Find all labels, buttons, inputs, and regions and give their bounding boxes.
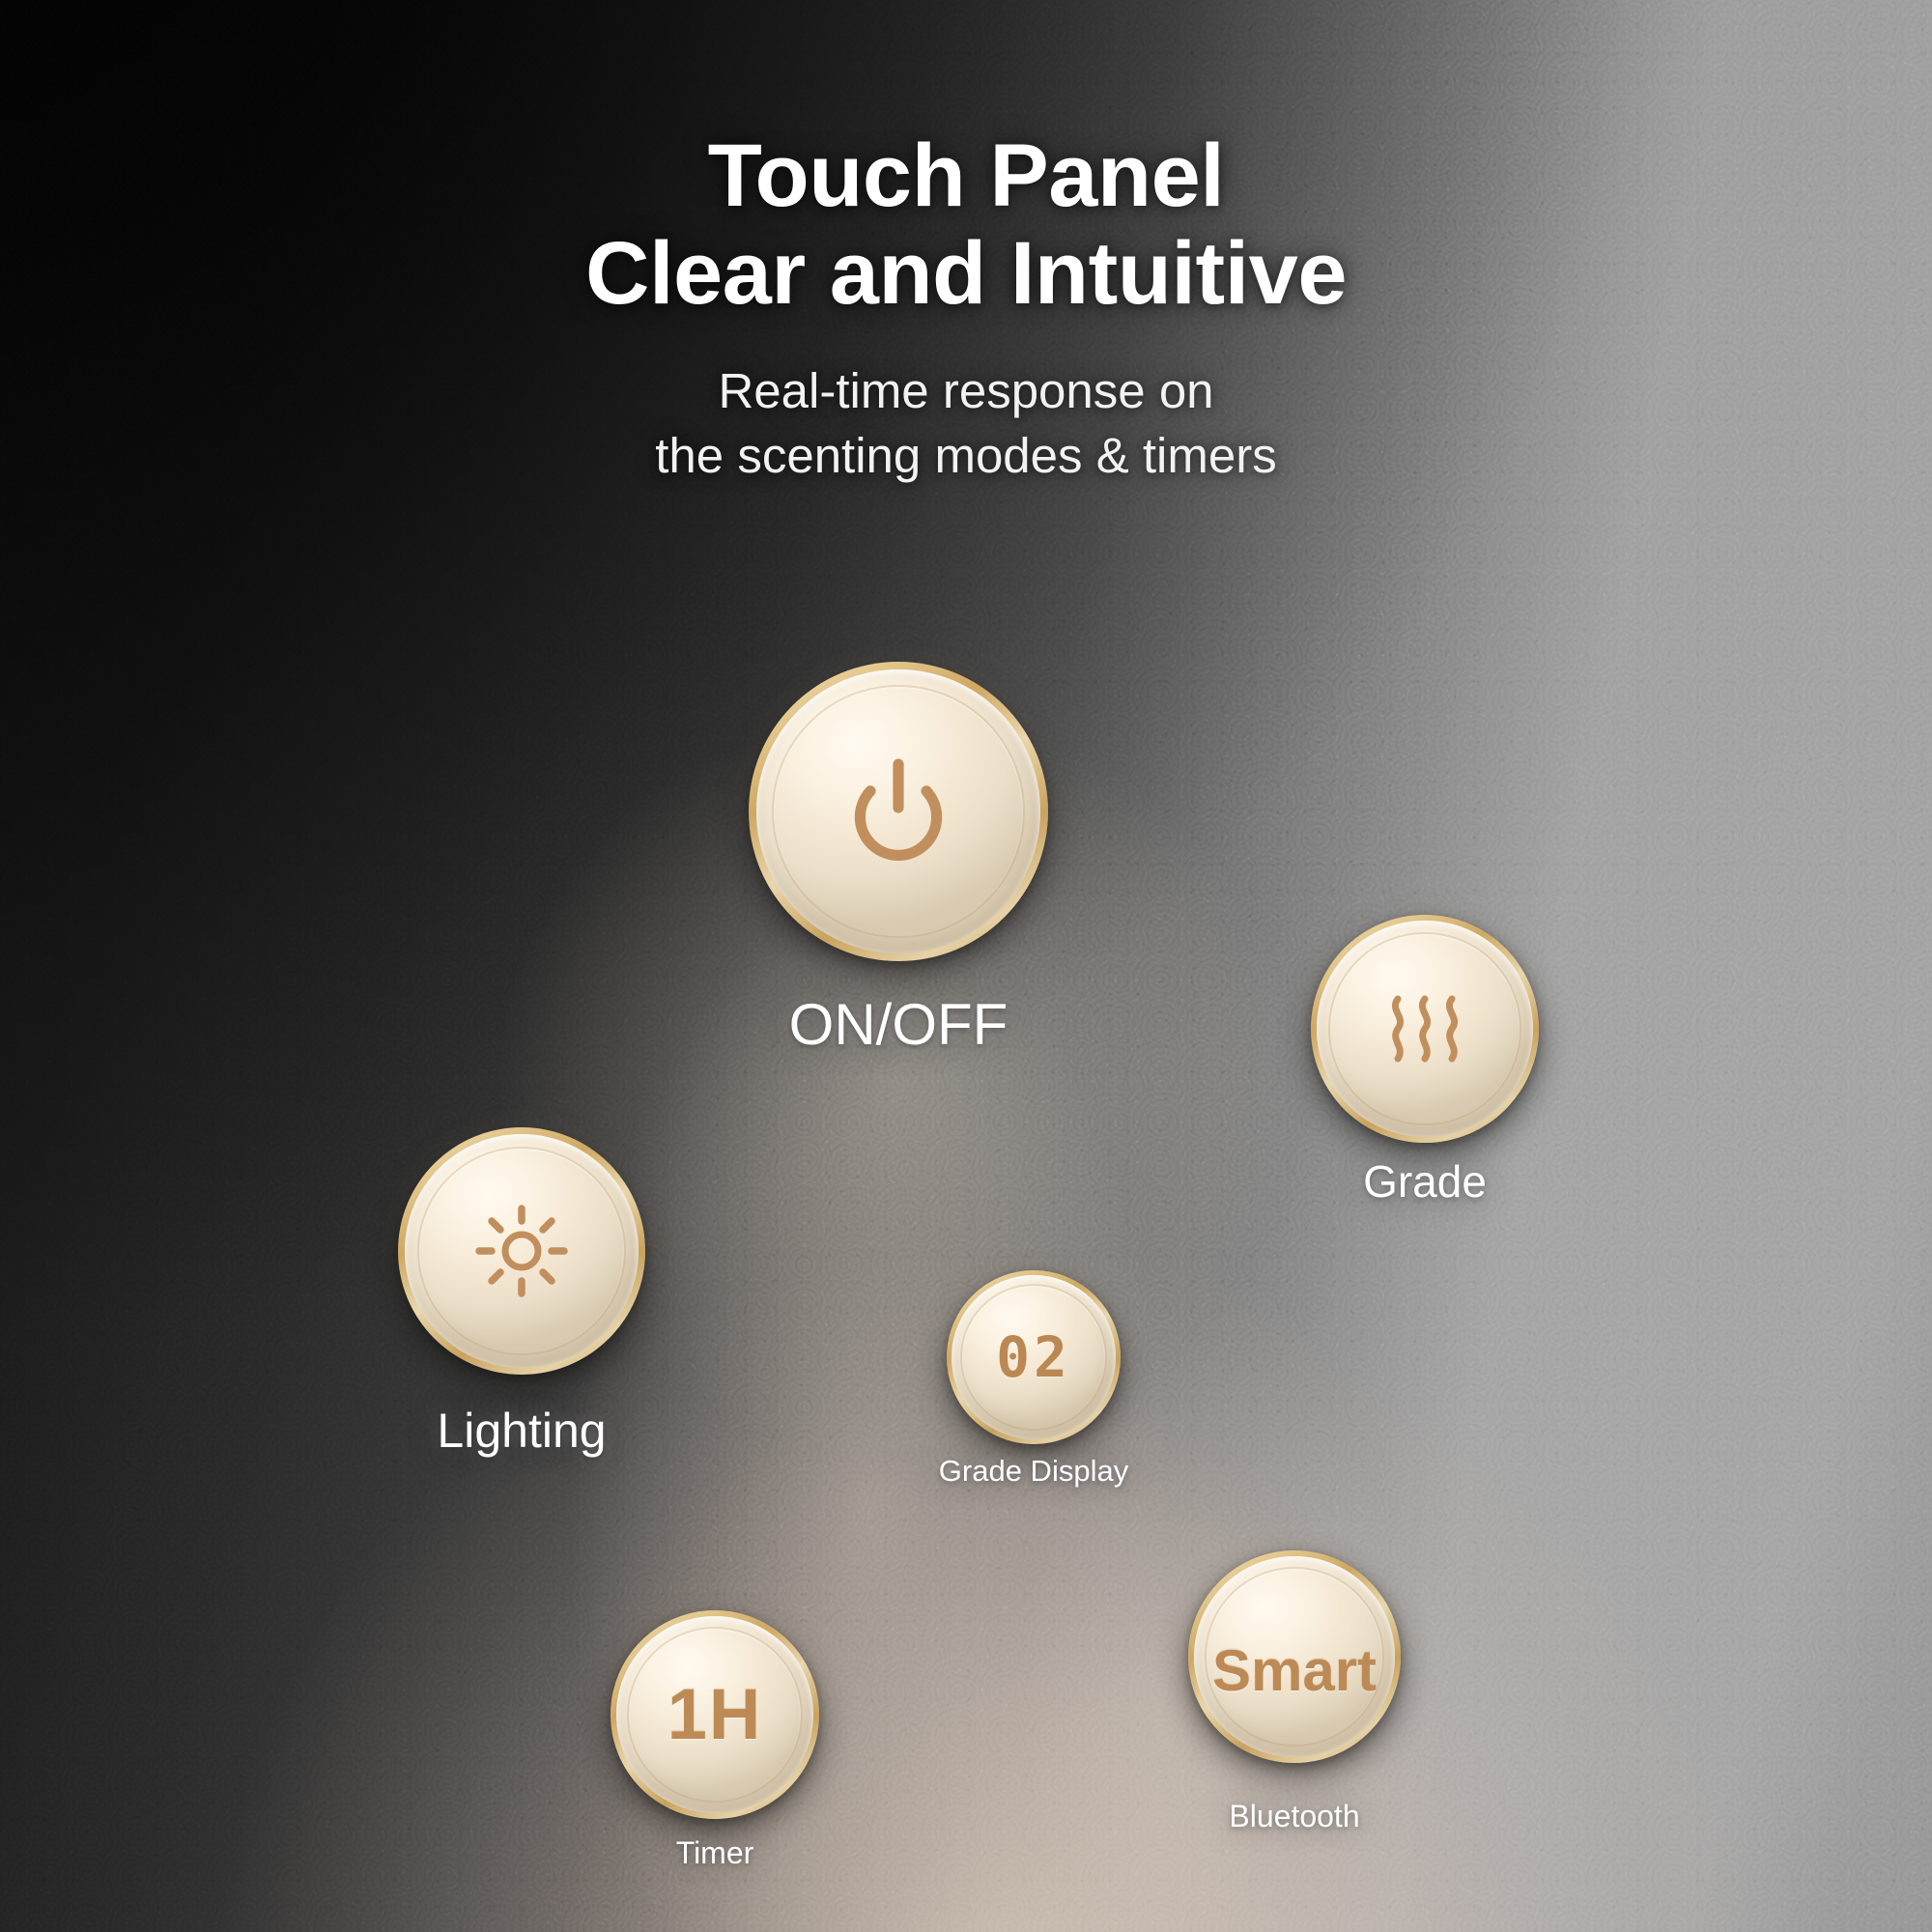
power-button-face: [756, 669, 1040, 953]
grade-button[interactable]: [1311, 915, 1539, 1143]
background-grain-overlay: [0, 0, 1932, 1932]
bluetooth-smart-face: Smart: [1194, 1556, 1396, 1758]
smart-label-on-key: Smart: [1212, 1642, 1377, 1700]
lighting-button[interactable]: [398, 1127, 645, 1375]
mist-waves-icon: [1380, 987, 1469, 1070]
bluetooth-smart-button[interactable]: Smart: [1188, 1550, 1401, 1763]
grade-button-face: [1317, 921, 1533, 1137]
timer-duration-glyph: 1H: [668, 1679, 763, 1750]
timer-value-on-key: 1H: [668, 1679, 763, 1750]
power-icon: [835, 748, 962, 875]
sun-brightness-icon: [473, 1203, 570, 1299]
grade-display-face: 02: [952, 1275, 1117, 1440]
grade-display-value: 02: [996, 1329, 1071, 1385]
lighting-button-face: [405, 1134, 639, 1369]
timer-button-face: 1H: [616, 1616, 814, 1814]
power-button[interactable]: [749, 662, 1048, 961]
timer-button[interactable]: 1H: [611, 1610, 819, 1819]
grade-display-indicator[interactable]: 02: [947, 1270, 1121, 1444]
touch-panel-scene: Touch Panel Clear and Intuitive Real-tim…: [0, 0, 1932, 1932]
seven-segment-display: 02: [996, 1329, 1071, 1385]
smart-text-glyph: Smart: [1212, 1613, 1377, 1700]
